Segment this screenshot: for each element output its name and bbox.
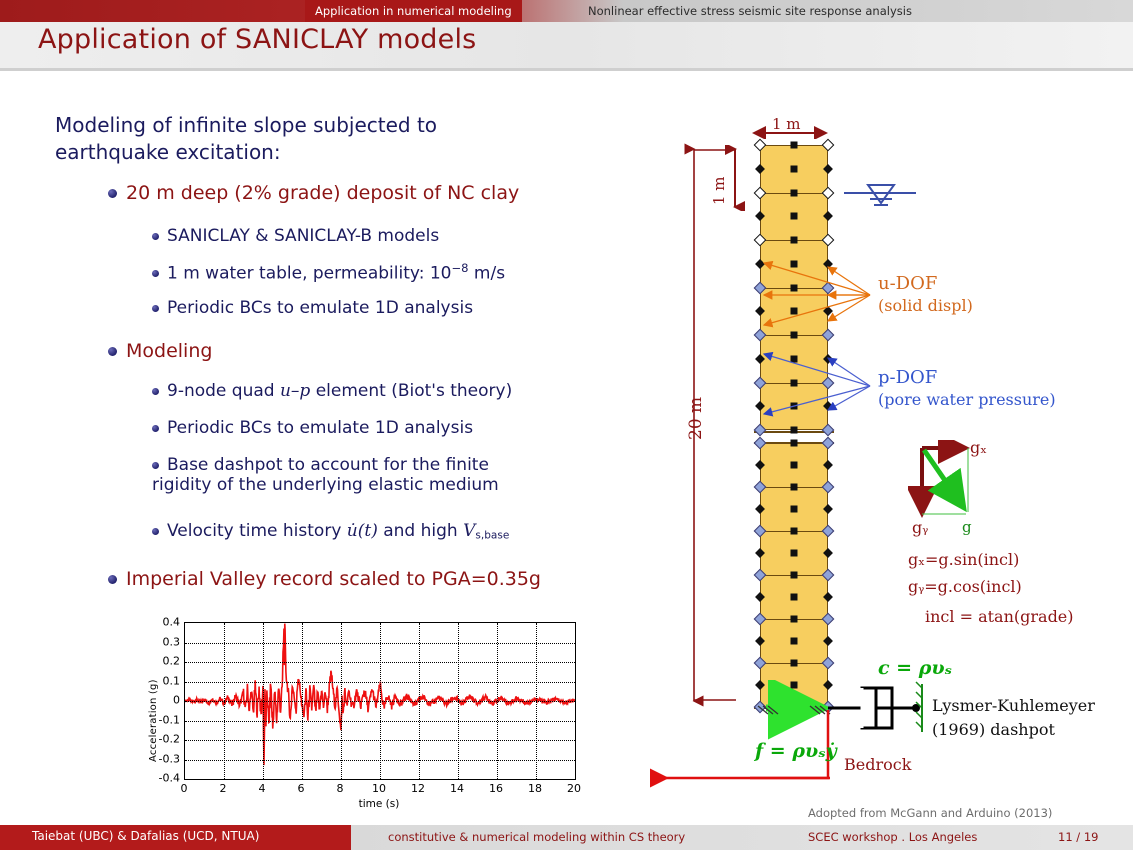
- bullet-marker-icon: [152, 270, 159, 277]
- permeability-exponent: −8: [451, 261, 468, 275]
- udof-label: u-DOF: [878, 273, 937, 294]
- chart-x-tick-label: 20: [567, 782, 581, 795]
- mesh-node: [791, 440, 798, 447]
- bullet-level1-deposit: 20 m deep (2% grade) deposit of NC clay: [108, 182, 519, 204]
- bullet-level1-modeling-label: Modeling: [126, 340, 212, 362]
- velocity-symbol: u̇(t): [347, 521, 378, 541]
- bullet-level2-base-dashpot: Base dashpot to account for the finite r…: [152, 455, 552, 496]
- mesh-node: [791, 427, 798, 434]
- vs-subscript: s,base: [475, 529, 509, 541]
- quad-element-post: element (Biot's theory): [310, 381, 512, 401]
- mesh-node: [791, 462, 798, 469]
- chart-gridline-h: [185, 662, 575, 663]
- attribution-note: Adopted from McGann and Arduino (2013): [808, 806, 1052, 820]
- udof-arrow-group: [750, 255, 875, 335]
- dashpot-coefficient-label: c = ρυₛ: [878, 657, 952, 679]
- bullet-marker-icon: [108, 575, 117, 584]
- chart-y-tick-label: 0.1: [163, 674, 181, 687]
- chart-x-tick-label: 8: [337, 782, 344, 795]
- footer-center-text: constitutive & numerical modeling within…: [388, 830, 685, 844]
- chart-x-tick-label: 18: [528, 782, 542, 795]
- bullet-marker-icon: [152, 425, 159, 432]
- chart-x-tick-label: 6: [298, 782, 305, 795]
- attribution-bold: Adopted from: [808, 806, 887, 820]
- chart-x-tick-label: 2: [220, 782, 227, 795]
- mesh-node: [791, 550, 798, 557]
- bullet-level2-velocity-history: Velocity time history u̇(t) and high Vs,…: [152, 521, 509, 541]
- mesh-node: [791, 484, 798, 491]
- chart-y-tick-label: -0.4: [159, 772, 180, 785]
- quad-element-pre: 9-node quad: [167, 381, 280, 401]
- chart-y-tick-label: 0.2: [163, 655, 181, 668]
- mesh-node: [791, 165, 798, 172]
- bullet-level2-periodic-bcs-1-label: Periodic BCs to emulate 1D analysis: [167, 298, 473, 318]
- chart-x-axis-label: time (s): [184, 798, 574, 810]
- chart-y-tick-label: 0.4: [163, 616, 181, 629]
- bullet-level2-saniclay-models: SANICLAY & SANICLAY-B models: [152, 226, 439, 246]
- chart-y-tick-label: -0.2: [159, 733, 180, 746]
- chart-x-tick-label: 10: [372, 782, 386, 795]
- mesh-node: [791, 572, 798, 579]
- chart-x-tick-label: 14: [450, 782, 464, 795]
- mesh-node: [791, 506, 798, 513]
- velocity-pre: Velocity time history: [167, 521, 347, 541]
- pdof-arrow-group: [750, 348, 875, 423]
- bullet-marker-icon: [152, 388, 159, 395]
- chart-gridline-h: [185, 643, 575, 644]
- mesh-node: [791, 594, 798, 601]
- attribution-rest: McGann and Arduino (2013): [887, 806, 1053, 820]
- bullet-level2-periodic-bcs-2: Periodic BCs to emulate 1D analysis: [152, 418, 473, 438]
- force-equation-label: f = ρυₛẏ: [755, 740, 837, 762]
- bullet-level2-periodic-bcs-2-label: Periodic BCs to emulate 1D analysis: [167, 418, 473, 438]
- quad-element-symbol: u–p: [280, 381, 310, 401]
- bullet-level2-periodic-bcs-1: Periodic BCs to emulate 1D analysis: [152, 298, 473, 318]
- footer-page-number: 11 / 19: [1058, 830, 1098, 844]
- soil-column-diagram: 1 m 1 m 20 m: [650, 95, 1133, 835]
- width-dimension-label: 1 m: [772, 115, 801, 133]
- chart-gridline-h: [185, 701, 575, 702]
- lead-line-1: Modeling of infinite slope subjected to: [55, 112, 485, 139]
- bullet-level2-water-table-post: m/s: [469, 264, 506, 284]
- chart-y-tick-label: 0.3: [163, 635, 181, 648]
- footer-authors: Taiebat (UBC) & Dafalias (UCD, NTUA): [32, 829, 259, 843]
- bullet-marker-icon: [108, 189, 117, 198]
- gx-label: gₓ: [970, 438, 987, 457]
- bedrock-label: Bedrock: [844, 755, 911, 774]
- bullet-marker-icon: [152, 305, 159, 312]
- g-label: g: [962, 518, 972, 536]
- bullet-level2-saniclay-models-label: SANICLAY & SANICLAY-B models: [167, 226, 439, 246]
- chart-y-tick-label: -0.1: [159, 713, 180, 726]
- mesh-node: [791, 213, 798, 220]
- chart-y-tick-label: 0: [173, 694, 180, 707]
- chart-gridline-h: [185, 682, 575, 683]
- chart-gridline-h: [185, 760, 575, 761]
- lead-paragraph: Modeling of infinite slope subjected to …: [55, 112, 485, 166]
- dashpot-name-line1: Lysmer-Kuhlemeyer: [932, 696, 1095, 715]
- chart-x-tick-label: 16: [489, 782, 503, 795]
- bullet-level2-base-dashpot-label: Base dashpot to account for the finite r…: [152, 455, 499, 495]
- pdof-label: p-DOF: [878, 367, 937, 388]
- udof-sublabel: (solid displ): [878, 296, 973, 315]
- bullet-marker-icon: [152, 528, 159, 535]
- depth-dimension-label: 20 m: [686, 397, 706, 440]
- water-table-icon: [842, 177, 920, 217]
- bullet-level2-quad-element: 9-node quad u–p element (Biot's theory): [152, 381, 512, 401]
- chart-x-tick-label: 0: [181, 782, 188, 795]
- bullet-level2-water-table: 1 m water table, permeability: 10−8 m/s: [152, 261, 505, 284]
- chart-plot-area: [184, 622, 576, 780]
- mesh-node: [791, 189, 798, 196]
- bullet-level2-water-table-pre: 1 m water table, permeability: 10: [167, 264, 451, 284]
- bullet-marker-icon: [108, 347, 117, 356]
- footer-venue: SCEC workshop . Los Angeles: [808, 830, 977, 844]
- bedrock-motion-arrow: [650, 765, 850, 795]
- velocity-mid: and high: [378, 521, 463, 541]
- mesh-node: [791, 638, 798, 645]
- bullet-level1-imperial-valley-label: Imperial Valley record scaled to PGA=0.3…: [126, 568, 541, 590]
- nav-item-section-title[interactable]: Nonlinear effective stress seismic site …: [578, 0, 922, 22]
- vs-symbol: V: [463, 521, 475, 541]
- mesh-node: [791, 660, 798, 667]
- incl-equation: incl = atan(grade): [925, 607, 1074, 626]
- gy-equation: gᵧ=g.cos(incl): [908, 577, 1022, 596]
- bullet-marker-icon: [152, 233, 159, 240]
- lead-line-2: earthquake excitation:: [55, 139, 485, 166]
- mesh-node: [791, 528, 798, 535]
- page-title: Application of SANICLAY models: [38, 24, 476, 55]
- acceleration-time-history-chart: Acceleration (g) 0.40.30.20.10-0.1-0.2-0…: [150, 612, 590, 817]
- chart-x-tick-label: 4: [259, 782, 266, 795]
- chart-gridline-h: [185, 740, 575, 741]
- mesh-node: [791, 237, 798, 244]
- dashpot-name-line2: (1969) dashpot: [932, 720, 1055, 739]
- pdof-sublabel: (pore water pressure): [878, 390, 1056, 409]
- chart-y-axis-ticks: 0.40.30.20.10-0.1-0.2-0.3-0.4: [150, 622, 180, 778]
- bullet-level1-modeling: Modeling: [108, 340, 212, 362]
- mesh-node: [791, 142, 798, 149]
- chart-y-tick-label: -0.3: [159, 752, 180, 765]
- gx-equation: gₓ=g.sin(incl): [908, 550, 1019, 569]
- top-navigation-bar: [0, 0, 1133, 22]
- nav-item-active[interactable]: Application in numerical modeling: [305, 0, 522, 22]
- chart-gridline-h: [185, 721, 575, 722]
- gy-label: gᵧ: [912, 518, 928, 537]
- bullet-marker-icon: [152, 462, 159, 469]
- bullet-level1-deposit-label: 20 m deep (2% grade) deposit of NC clay: [126, 182, 519, 204]
- width-dimension-arrow: [750, 117, 860, 139]
- mesh-node: [791, 616, 798, 623]
- chart-x-tick-label: 12: [411, 782, 425, 795]
- bullet-level1-imperial-valley: Imperial Valley record scaled to PGA=0.3…: [108, 568, 541, 590]
